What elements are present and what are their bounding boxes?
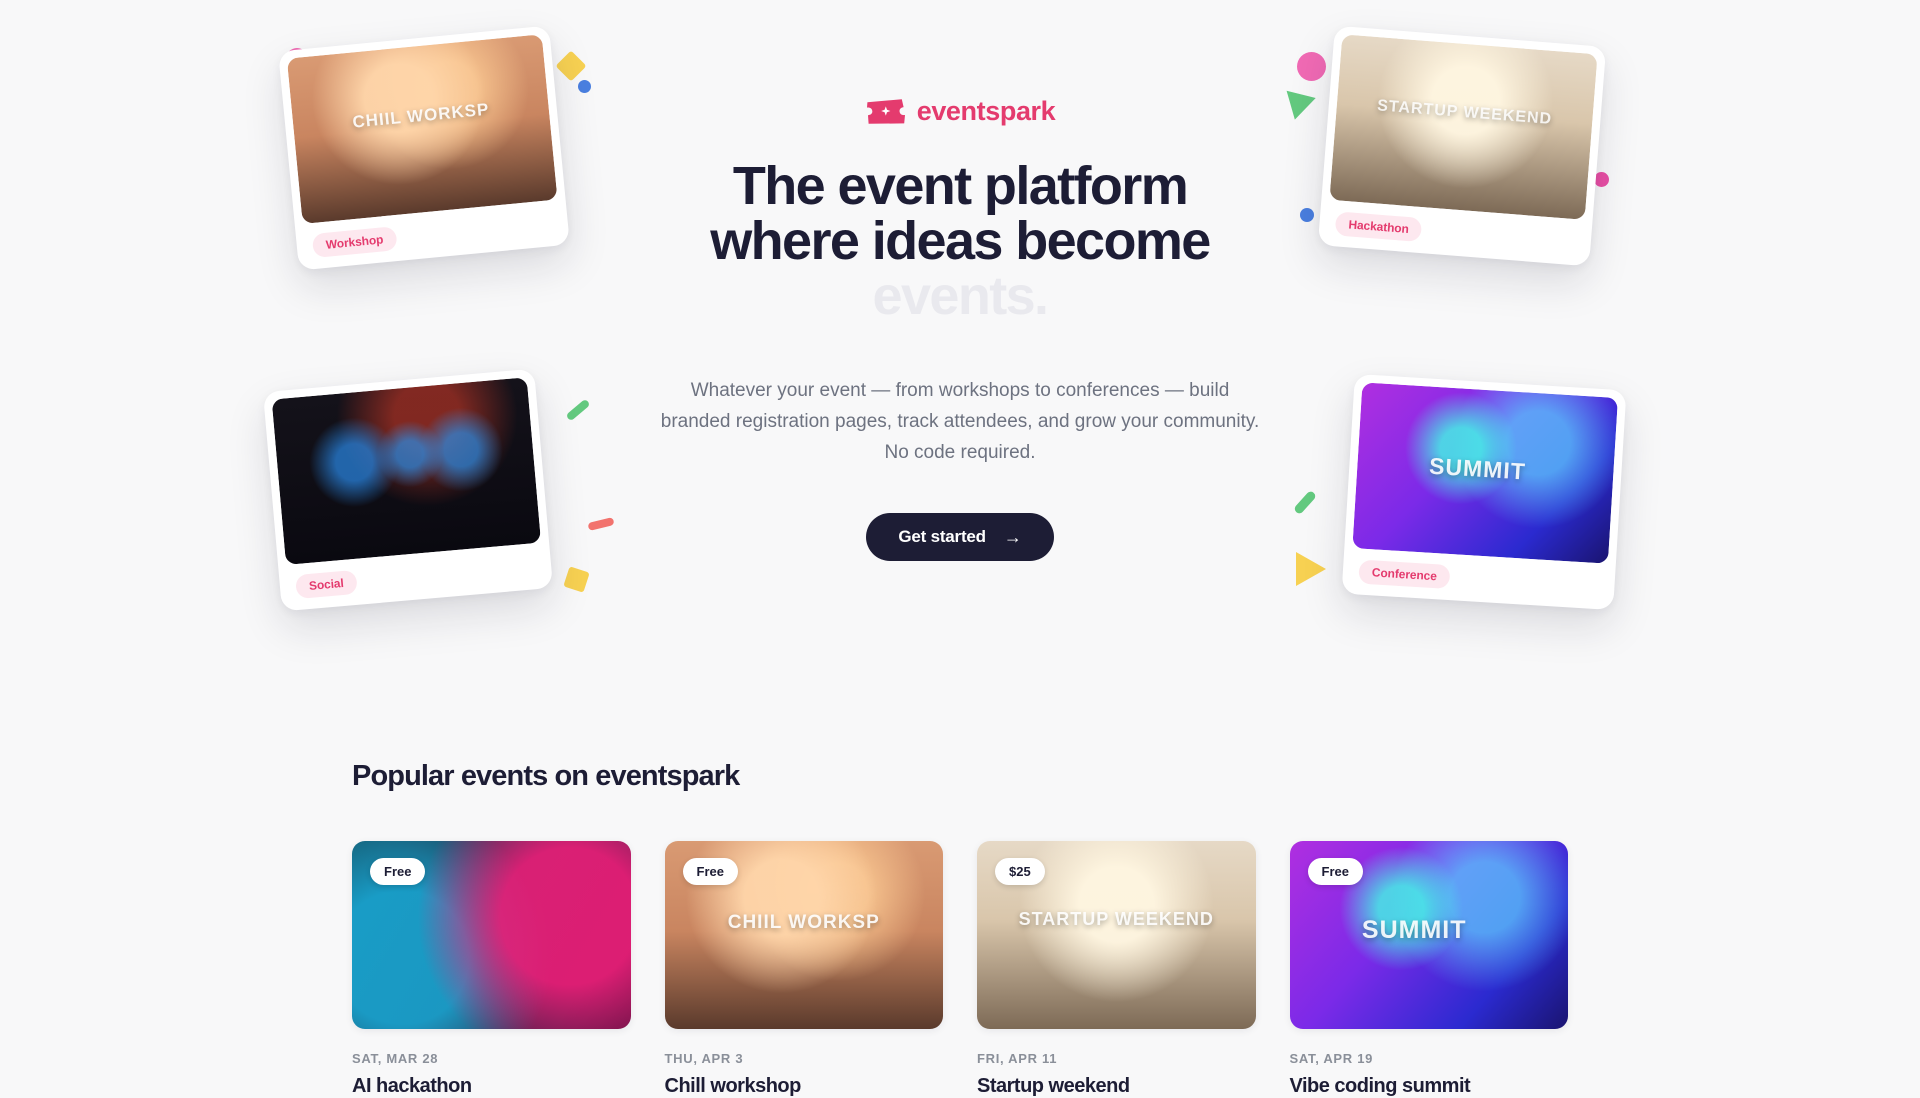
photo-overlay-text: STARTUP WEEKEND <box>977 909 1256 930</box>
floating-card-hackathon[interactable]: STARTUP WEEKEND Hackathon <box>1318 26 1606 267</box>
event-name: AI hackathon <box>352 1075 631 1098</box>
category-badge: Conference <box>1358 560 1450 590</box>
category-badge: Social <box>295 570 358 599</box>
event-image: SUMMIT Free <box>1290 841 1569 1029</box>
floating-card-photo <box>272 377 541 565</box>
popular-events-title: Popular events on eventspark <box>352 760 1568 793</box>
photo-overlay-text: CHIIL WORKSP <box>665 912 944 934</box>
event-card[interactable]: STARTUP WEEKEND $25 FRI, APR 11 Startup … <box>977 841 1256 1098</box>
photo-overlay-text: SUMMIT <box>1428 453 1614 491</box>
decor-magenta-dot-right <box>1594 172 1609 187</box>
floating-card-photo: STARTUP WEEKEND <box>1329 34 1597 220</box>
event-image: Free <box>352 841 631 1029</box>
event-card[interactable]: Free SAT, MAR 28 AI hackathon <box>352 841 631 1098</box>
category-badge: Hackathon <box>1335 211 1423 242</box>
decor-pink-circle-right <box>1297 52 1326 81</box>
floating-card-photo: SUMMIT <box>1352 382 1618 563</box>
event-date: SAT, APR 19 <box>1290 1051 1569 1066</box>
event-card[interactable]: SUMMIT Free SAT, APR 19 Vibe coding summ… <box>1290 841 1569 1098</box>
decor-yellow-diamond-left <box>555 50 586 81</box>
floating-card-photo: CHIIL WORKSP <box>287 34 558 224</box>
brand-name: eventspark <box>917 96 1056 127</box>
category-badge: Workshop <box>312 226 398 258</box>
event-date: FRI, APR 11 <box>977 1051 1256 1066</box>
headline-line-1: The event platform <box>733 156 1187 216</box>
get-started-button[interactable]: Get started → <box>866 513 1053 561</box>
headline-line-2: where ideas become <box>710 211 1209 271</box>
decor-green-dash-left <box>565 399 590 422</box>
page-title: The event platform where ideas become ev… <box>640 159 1280 324</box>
photo-overlay-text: SUMMIT <box>1362 916 1568 945</box>
price-badge: Free <box>370 858 425 885</box>
decor-blue-dot-left <box>578 80 591 93</box>
cta-container: Get started → <box>640 513 1280 561</box>
get-started-label: Get started <box>898 527 986 547</box>
hero-subtitle: Whatever your event — from workshops to … <box>640 376 1280 468</box>
event-date: THU, APR 3 <box>665 1051 944 1066</box>
event-date: SAT, MAR 28 <box>352 1051 631 1066</box>
hero-content: eventspark The event platform where idea… <box>640 96 1280 561</box>
price-badge: Free <box>1308 858 1363 885</box>
decor-yellow-chip-social <box>563 566 589 592</box>
brand-logo[interactable]: eventspark <box>640 96 1280 127</box>
floating-card-social[interactable]: Social <box>263 369 553 612</box>
event-image: STARTUP WEEKEND $25 <box>977 841 1256 1029</box>
popular-events-section: Popular events on eventspark Free SAT, M… <box>0 760 1920 1098</box>
event-card[interactable]: CHIIL WORKSP Free THU, APR 3 Chill works… <box>665 841 944 1098</box>
arrow-right-icon: → <box>1004 528 1022 546</box>
headline-line-3: events. <box>873 266 1048 326</box>
price-badge: Free <box>683 858 738 885</box>
decor-green-dash-right <box>1293 490 1317 515</box>
event-name: Startup weekend <box>977 1075 1256 1098</box>
event-name: Chill workshop <box>665 1075 944 1098</box>
price-badge: $25 <box>995 858 1045 885</box>
photo-overlay-text: STARTUP WEEKEND <box>1336 94 1593 132</box>
decor-green-triangle-right <box>1280 91 1315 123</box>
event-image: CHIIL WORKSP Free <box>665 841 944 1029</box>
photo-overlay-text: CHIIL WORKSP <box>293 94 550 138</box>
photo-overlay-text <box>277 437 532 459</box>
event-name: Vibe coding summit <box>1290 1075 1569 1098</box>
floating-card-conference[interactable]: SUMMIT Conference <box>1342 374 1627 610</box>
hero-section: CHIIL WORKSP Workshop STARTUP WEEKEND Ha… <box>0 0 1920 760</box>
floating-card-workshop[interactable]: CHIIL WORKSP Workshop <box>278 25 570 270</box>
decor-blue-dot-right <box>1300 208 1314 222</box>
event-grid: Free SAT, MAR 28 AI hackathon CHIIL WORK… <box>352 841 1568 1098</box>
decor-yellow-triangle-right <box>1296 552 1326 586</box>
ticket-sparkle-icon <box>865 98 905 125</box>
decor-coral-dash-left <box>587 517 614 531</box>
